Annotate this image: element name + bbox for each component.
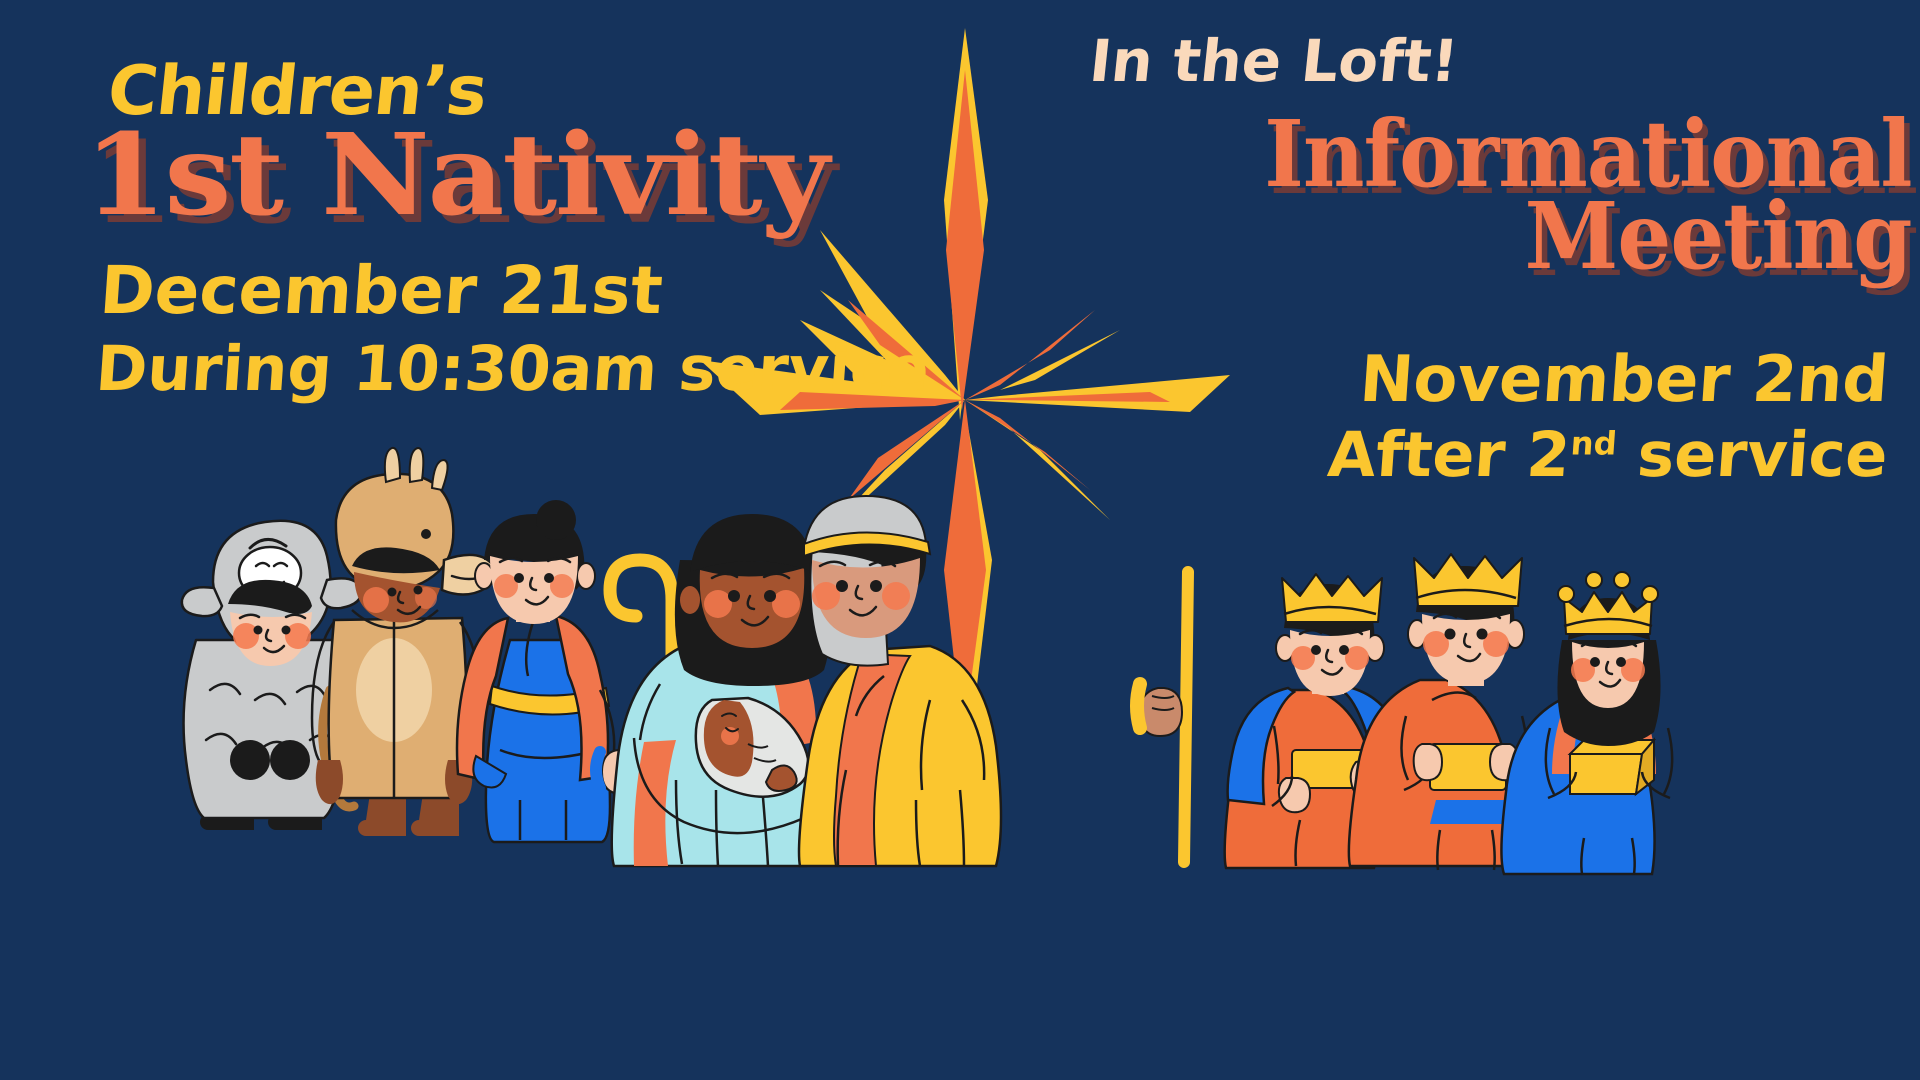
right-date-text: November 2nd	[1357, 348, 1890, 412]
right-time-prefix: After 2	[1326, 418, 1573, 491]
left-time-text: During 10:30am service	[94, 338, 931, 400]
right-time-suffix: service	[1614, 418, 1891, 491]
character-joseph-child	[799, 496, 1188, 866]
right-title-line2-text: Meeting	[1525, 190, 1912, 282]
character-camel-child	[312, 448, 496, 836]
left-date-text: December 21st	[98, 258, 665, 324]
right-eyebrow-text: In the Loft!	[1087, 32, 1461, 90]
right-time-text: After 2nd service	[1326, 424, 1890, 486]
right-time-superscript: nd	[1570, 424, 1619, 462]
character-mary-child	[612, 514, 832, 866]
nativity-poster: Children’s 1st Nativity December 21st Du…	[0, 0, 1920, 1080]
left-title-text: 1st Nativity	[84, 120, 827, 232]
character-king-three	[1501, 572, 1672, 874]
